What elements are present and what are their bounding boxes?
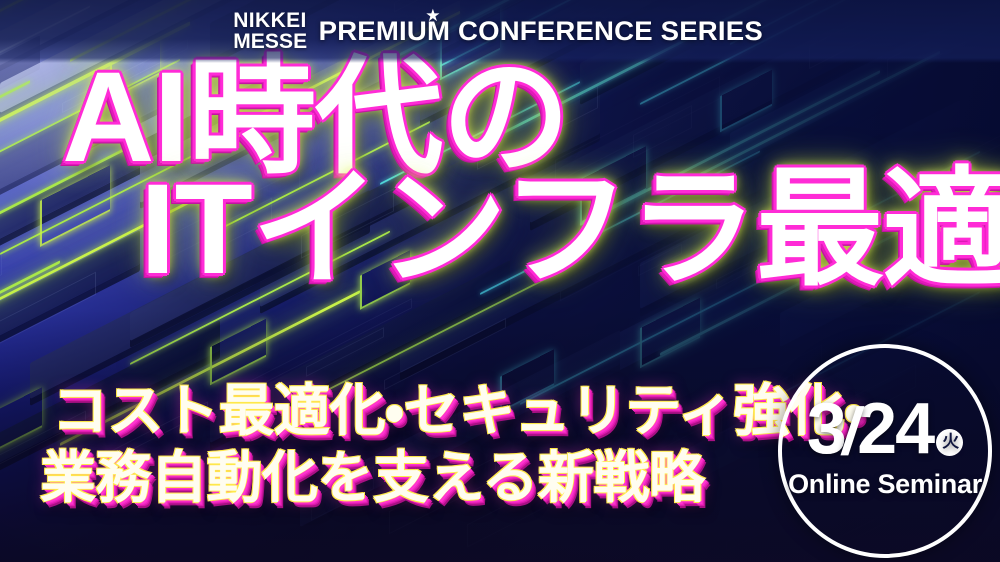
series-title: PREMIUM CONFERENCE SERIES xyxy=(319,16,763,47)
brand-line-1: NIKKEI xyxy=(233,11,307,32)
banner-header: NIKKEI MESSE PREMIUM CONFERENCE SERIES xyxy=(0,0,1000,63)
seminar-banner: NIKKEI MESSE PREMIUM CONFERENCE SERIES A… xyxy=(0,0,1000,562)
badge-day: 24 xyxy=(857,396,933,462)
badge-format-label: Online Seminar xyxy=(788,469,982,500)
nikkei-messe-logo: NIKKEI MESSE xyxy=(233,11,307,52)
day-of-week-badge: 火 xyxy=(936,429,963,456)
series-title-wrap: PREMIUM CONFERENCE SERIES xyxy=(323,16,759,47)
date-badge: 3 / 24 火 Online Seminar xyxy=(778,344,992,558)
badge-date-row: 3 / 24 火 xyxy=(807,396,963,462)
brand-line-2: MESSE xyxy=(233,32,307,53)
